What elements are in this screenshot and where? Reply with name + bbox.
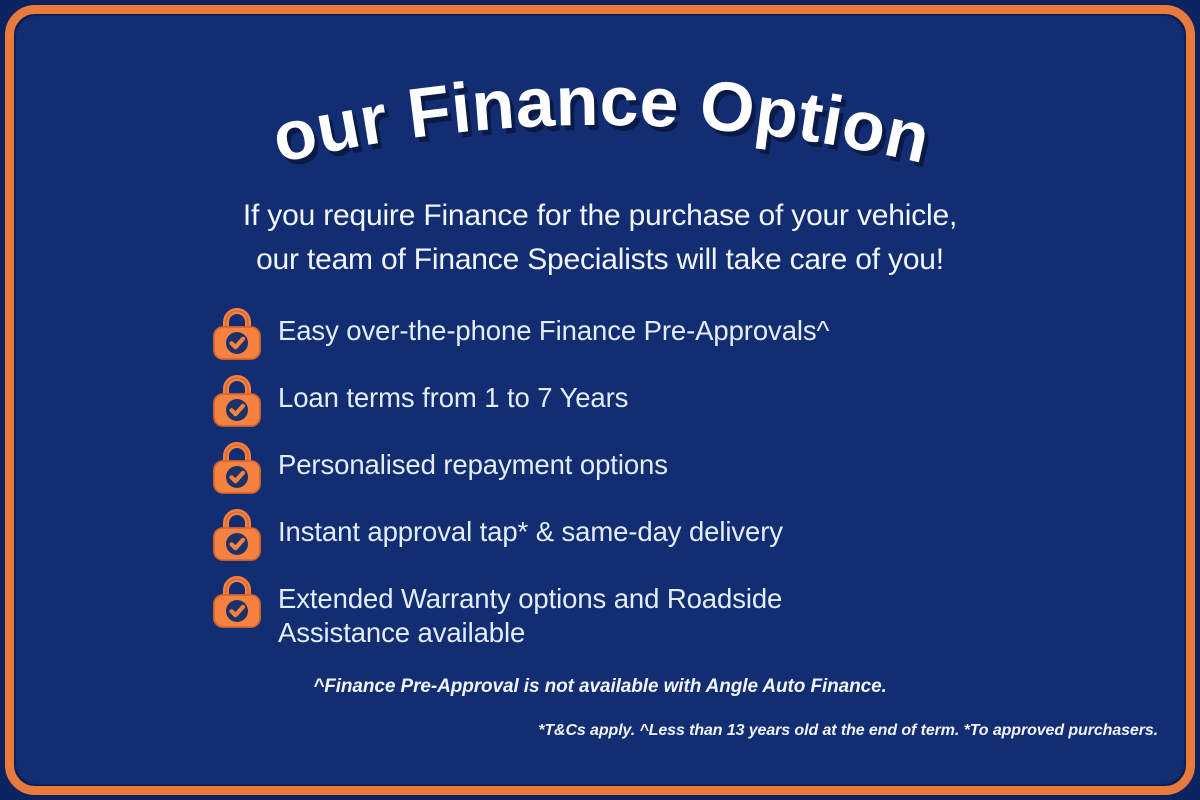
padlock-check-icon <box>208 302 278 362</box>
list-item: Personalised repayment options <box>208 436 1108 503</box>
footnote-primary: ^Finance Pre-Approval is not available w… <box>16 676 1184 698</box>
footnote-secondary: *T&Cs apply. ^Less than 13 years old at … <box>538 722 1158 740</box>
benefits-list: Easy over-the-phone Finance Pre-Approval… <box>208 302 1108 660</box>
list-item-label: Instant approval tap* & same-day deliver… <box>278 503 783 549</box>
list-item: Instant approval tap* & same-day deliver… <box>208 503 1108 570</box>
padlock-check-icon <box>208 570 278 630</box>
padlock-check-icon <box>208 436 278 496</box>
subtitle: If you require Finance for the purchase … <box>16 194 1184 282</box>
list-item-label-line-2: Assistance available <box>278 616 782 650</box>
list-item: Extended Warranty options and Roadside A… <box>208 570 1108 660</box>
list-item-label: Loan terms from 1 to 7 Years <box>278 369 628 415</box>
padlock-check-icon <box>208 503 278 563</box>
list-item-label: Easy over-the-phone Finance Pre-Approval… <box>278 302 829 348</box>
page-title: Your Finance Options Your Finance Option… <box>16 54 1184 184</box>
page-title-text: Your Finance Options <box>16 16 937 178</box>
subtitle-line-1: If you require Finance for the purchase … <box>16 194 1184 238</box>
list-item: Loan terms from 1 to 7 Years <box>208 369 1108 436</box>
finance-options-poster: Your Finance Options Your Finance Option… <box>0 0 1200 800</box>
subtitle-line-2: our team of Finance Specialists will tak… <box>16 238 1184 282</box>
list-item: Easy over-the-phone Finance Pre-Approval… <box>208 302 1108 369</box>
list-item-label: Extended Warranty options and Roadside A… <box>278 570 782 650</box>
list-item-label: Personalised repayment options <box>278 436 668 482</box>
padlock-check-icon <box>208 369 278 429</box>
poster-stage: Your Finance Options Your Finance Option… <box>16 16 1184 784</box>
